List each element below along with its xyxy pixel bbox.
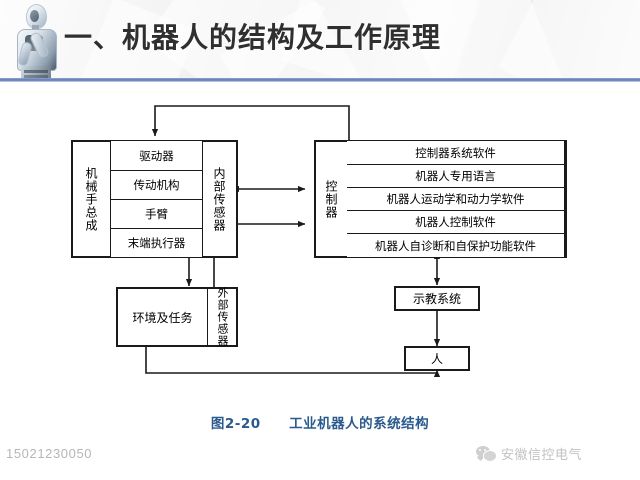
teaching-system-block: 示教系统 — [394, 286, 480, 311]
wechat-icon — [476, 446, 496, 462]
watermark: 安徽信控电气 — [476, 444, 582, 463]
figure-number: 图2-20 — [211, 416, 261, 432]
slide-header: 一、机器人的结构及工作原理 — [0, 0, 640, 82]
internal-sensor-label: 内部传感器 — [202, 142, 236, 256]
page-number: 15021230050 — [6, 446, 92, 461]
controller-label: 控制器 — [316, 142, 348, 256]
figure-title: 工业机器人的系统结构 — [289, 416, 429, 432]
manipulator-row-arm: 手臂 — [111, 199, 203, 229]
manipulator-row-end-effector: 末端执行器 — [111, 228, 203, 257]
controller-row-robot-language: 机器人专用语言 — [347, 164, 565, 188]
manipulator-row-transmission: 传动机构 — [111, 170, 203, 200]
watermark-text: 安徽信控电气 — [501, 444, 582, 463]
teaching-system-label: 示教系统 — [396, 288, 478, 309]
controller-row-system-software: 控制器系统软件 — [347, 141, 565, 165]
external-sensor-label: 外部传感器 — [207, 289, 236, 345]
environment-block: 环境及任务 外部传感器 — [116, 287, 238, 347]
controller-row-kinematics-dynamics: 机器人运动学和动力学软件 — [347, 187, 565, 211]
environment-label: 环境及任务 — [118, 289, 207, 345]
manipulator-assembly-block: 机械手总成 驱动器 传动机构 手臂 末端执行器 内部传感器 — [71, 140, 238, 258]
manipulator-row-actuator: 驱动器 — [111, 141, 203, 171]
human-label: 人 — [406, 348, 468, 369]
human-block: 人 — [404, 346, 470, 371]
page-title: 一、机器人的结构及工作原理 — [64, 16, 441, 56]
figure-caption: 图2-20 工业机器人的系统结构 — [0, 412, 640, 432]
system-structure-diagram: 机械手总成 驱动器 传动机构 手臂 末端执行器 内部传感器 控制器 控制器系统软… — [0, 82, 640, 412]
slide: 一、机器人的结构及工作原理 — [0, 0, 640, 480]
controller-row-diagnostics-software: 机器人自诊断和自保护功能软件 — [347, 233, 565, 257]
controller-row-control-software: 机器人控制软件 — [347, 210, 565, 234]
manipulator-assembly-label: 机械手总成 — [73, 142, 111, 256]
controller-block: 控制器 控制器系统软件 机器人专用语言 机器人运动学和动力学软件 机器人控制软件… — [314, 140, 567, 258]
robot-illustration-icon — [12, 2, 64, 82]
